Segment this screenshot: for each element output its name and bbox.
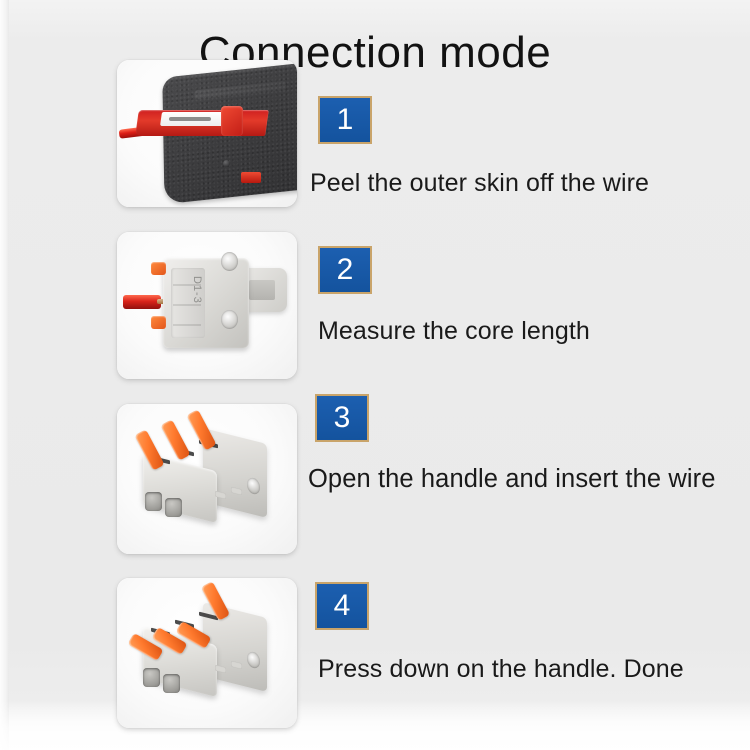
step-1-photo-card	[117, 60, 297, 207]
wire-port-2	[165, 498, 182, 517]
connector-body	[163, 258, 249, 348]
step-3-number-badge: 3	[315, 394, 369, 442]
connector-closed-photo	[117, 578, 297, 728]
stripper-red-block	[221, 106, 243, 136]
connector-hole-bottom	[221, 310, 238, 329]
connection-mode-infographic: Connection mode 1 Peel the outer skin of…	[0, 0, 750, 750]
step-4-caption: Press down on the handle. Done	[318, 654, 684, 684]
wire-port-1	[143, 668, 160, 687]
orange-lever-top	[151, 262, 166, 275]
wire-port-1	[145, 492, 162, 511]
step-3-photo-card	[117, 404, 297, 554]
step-4-photo-card	[117, 578, 297, 728]
step-1-caption: Peel the outer skin off the wire	[310, 168, 649, 198]
step-4-number-badge: 4	[315, 582, 369, 630]
connector-model-label: D1-3	[191, 276, 203, 304]
step-2-photo-card: D1-3	[117, 232, 297, 379]
step-row-3: 3 Open the handle and insert the wire	[0, 394, 750, 574]
stripper-jaw-blade	[169, 117, 211, 121]
step-row-4: 4 Press down on the handle. Done	[0, 568, 750, 748]
step-1-number-badge: 1	[318, 96, 372, 144]
connector-hole-top	[221, 252, 238, 271]
connector-open-photo	[117, 404, 297, 554]
orange-lever-bottom	[151, 316, 166, 329]
screw-icon	[223, 160, 230, 167]
connector-wing-slot	[249, 280, 275, 300]
step-2-number-badge: 2	[318, 246, 372, 294]
step-2-caption: Measure the core length	[318, 316, 590, 346]
step-row-1: 1 Peel the outer skin off the wire	[0, 52, 750, 232]
tool-red-button	[241, 172, 261, 183]
step-3-caption: Open the handle and insert the wire	[308, 464, 716, 494]
wire-stripper-photo	[117, 60, 297, 207]
step-row-2: D1-3 2 Measure the core length	[0, 224, 750, 404]
connector-side-photo: D1-3	[117, 232, 297, 379]
red-wire-icon	[123, 295, 161, 309]
connector-isometric	[117, 404, 297, 554]
orange-lever-1-open	[134, 429, 164, 470]
wire-port-2	[163, 674, 180, 693]
connector-isometric	[117, 578, 297, 728]
